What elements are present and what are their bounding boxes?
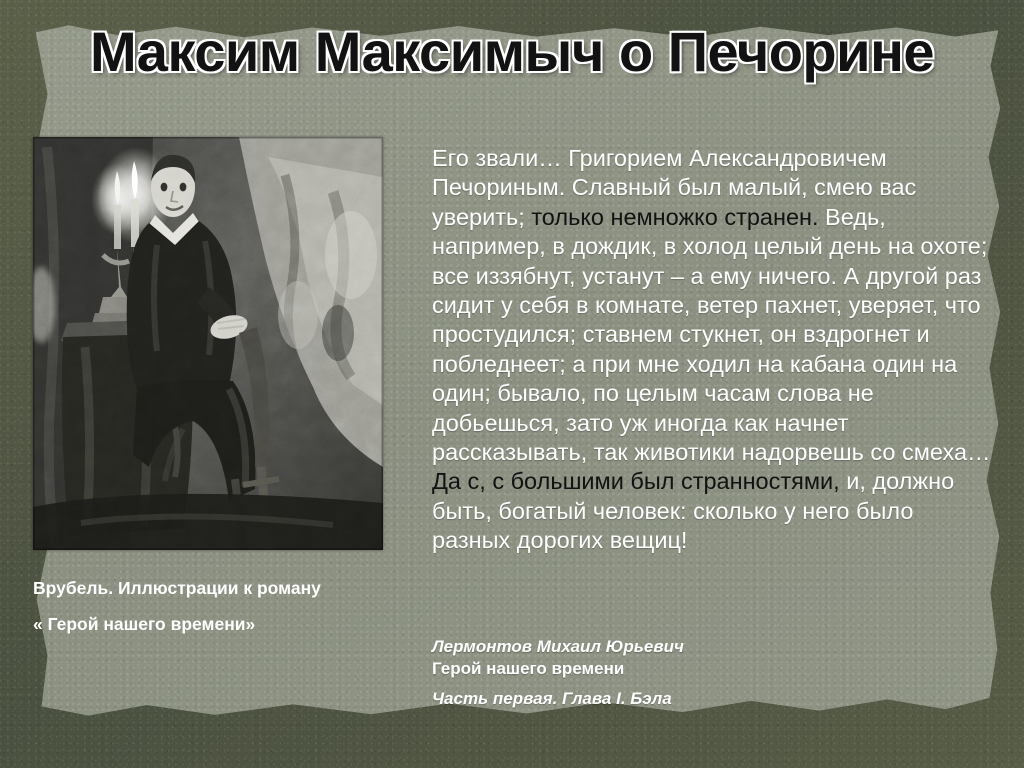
page-title: Максим Максимыч о Печорине <box>0 23 1024 82</box>
image-caption: Врубель. Иллюстрации к роману « Герой на… <box>33 580 403 633</box>
attribution-chapter: Часть первая. Глава I. Бэла <box>432 688 952 710</box>
attribution-work: Герой нашего времени <box>432 658 952 680</box>
source-attribution: Лермонтов Михаил Юрьевич Герой нашего вр… <box>432 636 952 709</box>
attribution-author: Лермонтов Михаил Юрьевич <box>432 636 952 658</box>
presentation-slide: Максим Максимыч о Печорине <box>0 0 1024 768</box>
quote-paragraph: Его звали… Григорием Александровичем Печ… <box>432 144 994 556</box>
vrubel-illustration-image <box>33 137 383 550</box>
illustration-canvas <box>33 137 383 550</box>
caption-line-2: « Герой нашего времени» <box>33 616 403 634</box>
quote-segment-3: Да с, с большими был странностями, <box>432 468 840 494</box>
quote-segment-2: Ведь, например, в дождик, в холод целый … <box>432 204 991 465</box>
caption-line-1: Врубель. Иллюстрации к роману <box>33 580 403 598</box>
quote-segment-1: только немножко странен. <box>531 204 818 230</box>
